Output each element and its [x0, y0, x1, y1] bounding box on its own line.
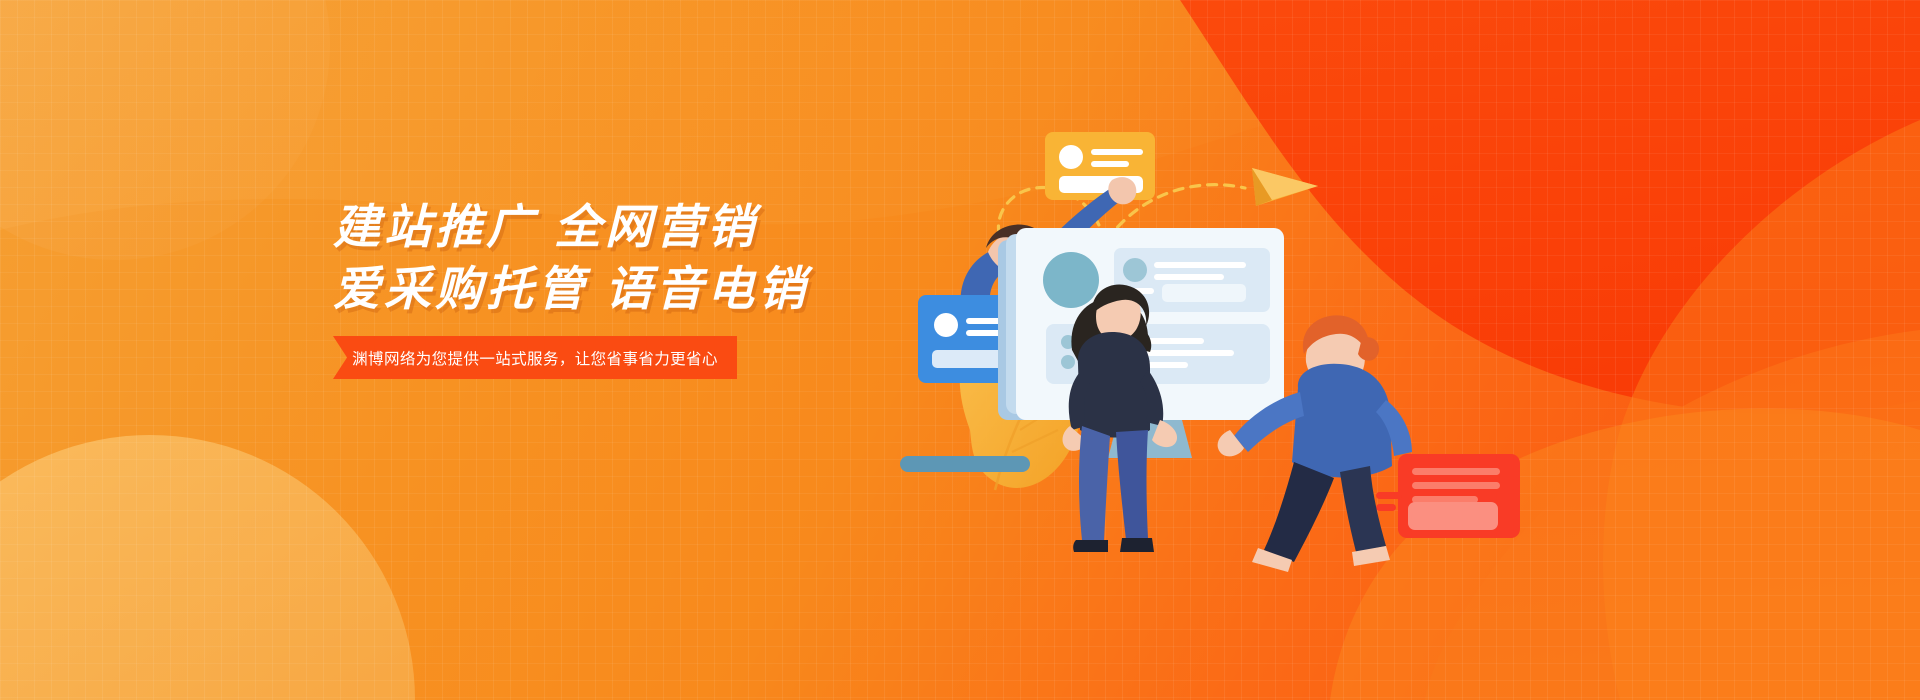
- illustration: [900, 100, 1620, 600]
- yellow-profile-card: [1045, 132, 1155, 200]
- ribbon-text: 渊博网络为您提供一站式服务，让您省事省力更省心: [352, 347, 718, 369]
- blob-bottom-left: [0, 435, 415, 700]
- red-info-card: [1376, 454, 1520, 538]
- headline-line-2: 爱采购托管 语音电销: [333, 258, 973, 320]
- illustration-svg: [900, 100, 1620, 600]
- promo-banner: 建站推广 全网营销 爱采购托管 语音电销 渊博网络为您提供一站式服务，让您省事省…: [0, 0, 1920, 700]
- headline-line-1: 建站推广 全网营销: [333, 196, 973, 258]
- headline-block: 建站推广 全网营销 爱采购托管 语音电销: [333, 196, 973, 320]
- paper-plane-icon: [1252, 168, 1318, 206]
- subtitle-ribbon: 渊博网络为您提供一站式服务，让您省事省力更省心: [333, 336, 737, 379]
